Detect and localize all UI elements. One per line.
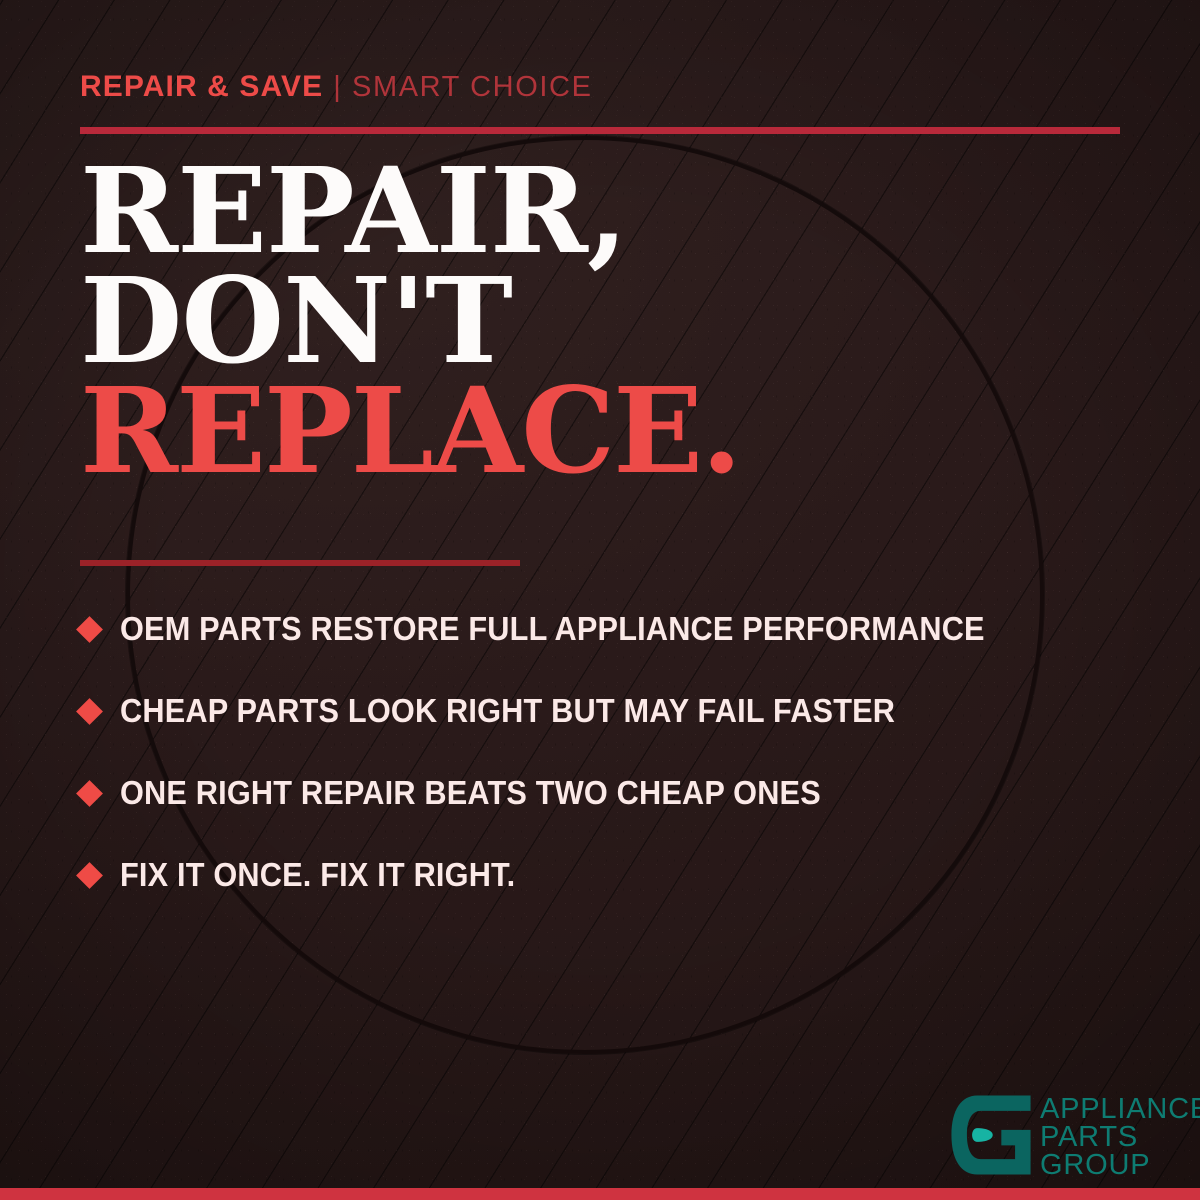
kicker: REPAIR & SAVE| SMART CHOICE [80, 72, 593, 102]
diamond-bullet-icon [76, 698, 103, 725]
list-item: CHEAP PARTS LOOK RIGHT BUT MAY FAIL FAST… [80, 670, 1160, 752]
kicker-strong-text: REPAIR & SAVE [80, 70, 323, 103]
brand-logo: APPLIANCE PARTS GROUP [948, 1092, 1200, 1179]
list-item: ONE RIGHT REPAIR BEATS TWO CHEAP ONES [80, 752, 1160, 834]
headline-block: REPAIR, DON'T REPLACE. [80, 156, 1140, 486]
brand-logo-wordmark: APPLIANCE PARTS GROUP [1040, 1092, 1200, 1179]
list-item: OEM PARTS RESTORE FULL APPLIANCE PERFORM… [80, 588, 1160, 670]
header-rule [80, 127, 1120, 134]
diamond-bullet-icon [76, 780, 103, 807]
headline-line-3: REPLACE. [80, 376, 1140, 486]
section-divider [80, 560, 520, 566]
list-item-label: ONE RIGHT REPAIR BEATS TWO CHEAP ONES [120, 774, 821, 812]
kicker-light-text: | SMART CHOICE [333, 71, 592, 103]
headline-line-1: REPAIR, [80, 156, 1140, 266]
poster-canvas: REPAIR & SAVE| SMART CHOICE REPAIR, DON'… [0, 0, 1200, 1200]
diamond-bullet-icon [76, 616, 103, 643]
logo-word-group: GROUP [1040, 1151, 1200, 1179]
logo-word-parts: PARTS [1040, 1123, 1200, 1151]
diamond-bullet-icon [76, 862, 103, 889]
list-item-label: CHEAP PARTS LOOK RIGHT BUT MAY FAIL FAST… [120, 692, 895, 730]
list-item-label: OEM PARTS RESTORE FULL APPLIANCE PERFORM… [120, 610, 985, 648]
bottom-accent-bar [0, 1188, 1200, 1200]
list-item-label: FIX IT ONCE. FIX IT RIGHT. [120, 856, 515, 894]
benefits-list: OEM PARTS RESTORE FULL APPLIANCE PERFORM… [80, 588, 1160, 916]
appliance-parts-group-g-icon [948, 1092, 1034, 1178]
headline-line-2: DON'T [80, 266, 1140, 376]
list-item: FIX IT ONCE. FIX IT RIGHT. [80, 834, 1160, 916]
logo-word-appliance: APPLIANCE [1040, 1095, 1200, 1123]
